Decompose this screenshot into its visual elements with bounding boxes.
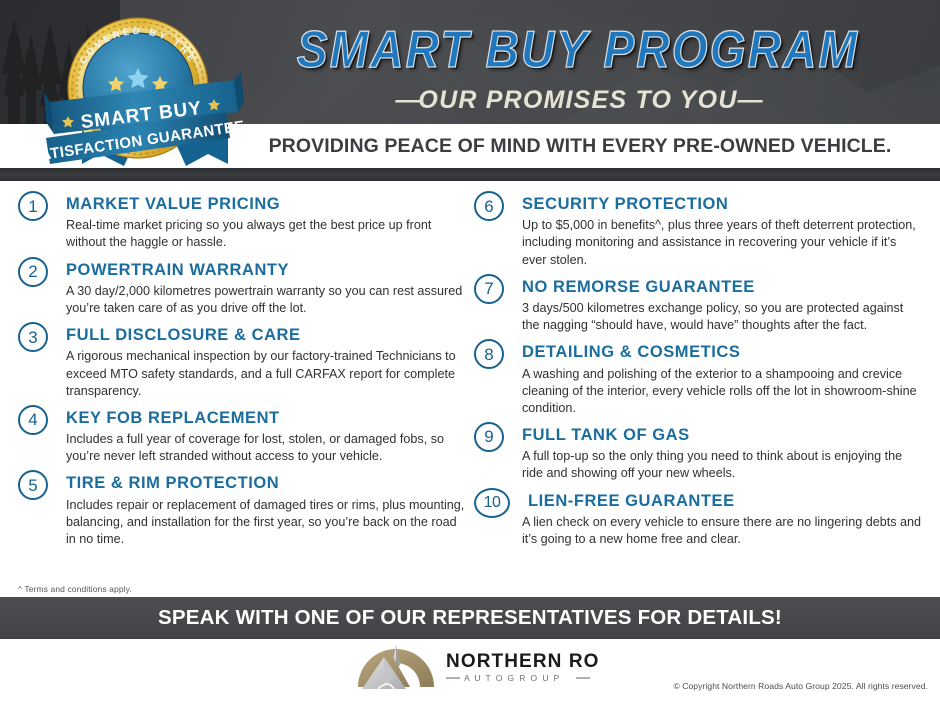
promise-item: 10 LIEN-FREE GUARANTEE A lien check on e… bbox=[474, 488, 924, 549]
promise-title: DETAILING & COSMETICS bbox=[522, 339, 924, 361]
promise-number-badge: 5 bbox=[18, 470, 48, 500]
promise-item: 4 KEY FOB REPLACEMENT Includes a full ye… bbox=[18, 405, 468, 466]
promise-number-badge: 1 bbox=[18, 191, 48, 221]
promise-title: NO REMORSE GUARANTEE bbox=[522, 274, 924, 296]
promise-number-badge: 6 bbox=[474, 191, 504, 221]
logo-name: NORTHERN ROADS bbox=[446, 651, 600, 672]
promise-title: KEY FOB REPLACEMENT bbox=[66, 405, 468, 427]
page-title: SMART BUY PROGRAM bbox=[228, 17, 928, 82]
copyright-text: © Copyright Northern Roads Auto Group 20… bbox=[673, 681, 928, 691]
promise-title: POWERTRAIN WARRANTY bbox=[66, 257, 468, 279]
promise-description: Includes a full year of coverage for los… bbox=[66, 431, 468, 465]
promise-description: Up to $5,000 in benefits^, plus three ye… bbox=[522, 217, 924, 268]
promise-item: 6 SECURITY PROTECTION Up to $5,000 in be… bbox=[474, 191, 924, 269]
promise-number-badge: 9 bbox=[474, 422, 504, 452]
page-subtitle: —OUR PROMISES TO YOU— bbox=[228, 86, 928, 115]
promise-title: FULL DISCLOSURE & CARE bbox=[66, 322, 468, 344]
promise-title: SECURITY PROTECTION bbox=[522, 191, 924, 213]
subtitle-text: OUR PROMISES TO YOU bbox=[418, 86, 737, 114]
promise-item: 3 FULL DISCLOSURE & CARE A rigorous mech… bbox=[18, 322, 468, 400]
promise-description: A lien check on every vehicle to ensure … bbox=[522, 514, 924, 548]
promises-column-left: 1 MARKET VALUE PRICING Real-time market … bbox=[18, 191, 468, 553]
cta-bar[interactable]: SPEAK WITH ONE OF OUR REPRESENTATIVES FO… bbox=[0, 597, 940, 639]
promise-title: FULL TANK OF GAS bbox=[522, 422, 924, 444]
promises-body: 1 MARKET VALUE PRICING Real-time market … bbox=[0, 181, 940, 585]
promise-item: 5 TIRE & RIM PROTECTION Includes repair … bbox=[18, 470, 468, 548]
terms-and-conditions-note: ^ Terms and conditions apply. bbox=[18, 584, 132, 594]
promise-description: A washing and polishing of the exterior … bbox=[522, 366, 924, 417]
promise-description: Includes repair or replacement of damage… bbox=[66, 497, 468, 548]
subtitle-dash-right: — bbox=[738, 86, 761, 114]
promise-item: 1 MARKET VALUE PRICING Real-time market … bbox=[18, 191, 468, 252]
smart-buy-satisfaction-guarantee-badge: COVERED BY THE SMART BUY SATISFACTION GU… bbox=[38, 4, 248, 170]
subtitle-dash-left: — bbox=[395, 86, 418, 114]
northern-roads-auto-group-logo[interactable]: NORTHERN ROADS A U T O G R O U P bbox=[348, 643, 600, 693]
promise-title: MARKET VALUE PRICING bbox=[66, 191, 468, 213]
cta-text: SPEAK WITH ONE OF OUR REPRESENTATIVES FO… bbox=[0, 597, 940, 639]
promise-number-badge: 10 bbox=[474, 488, 510, 518]
promise-description: A 30 day/2,000 kilometres powertrain war… bbox=[66, 283, 468, 317]
promise-item: 9 FULL TANK OF GAS A full top-up so the … bbox=[474, 422, 924, 483]
promise-number-badge: 8 bbox=[474, 339, 504, 369]
promise-number-badge: 3 bbox=[18, 322, 48, 352]
mountain-compass-icon bbox=[358, 645, 434, 689]
promise-number-badge: 7 bbox=[474, 274, 504, 304]
promise-description: A rigorous mechanical inspection by our … bbox=[66, 348, 468, 399]
promise-description: A full top-up so the only thing you need… bbox=[522, 448, 924, 482]
promise-item: 2 POWERTRAIN WARRANTY A 30 day/2,000 kil… bbox=[18, 257, 468, 318]
promise-title: TIRE & RIM PROTECTION bbox=[66, 470, 468, 492]
promise-item: 7 NO REMORSE GUARANTEE 3 days/500 kilome… bbox=[474, 274, 924, 335]
smart-buy-program-page: SMART BUY PROGRAM —OUR PROMISES TO YOU— … bbox=[0, 0, 940, 705]
promise-number-badge: 4 bbox=[18, 405, 48, 435]
promise-description: Real-time market pricing so you always g… bbox=[66, 217, 468, 251]
footer: NORTHERN ROADS A U T O G R O U P © Copyr… bbox=[0, 639, 940, 705]
promise-title: LIEN-FREE GUARANTEE bbox=[528, 488, 924, 510]
promise-item: 8 DETAILING & COSMETICS A washing and po… bbox=[474, 339, 924, 417]
promise-number-badge: 2 bbox=[18, 257, 48, 287]
promise-description: 3 days/500 kilometres exchange policy, s… bbox=[522, 300, 924, 334]
tagline-text: PROVIDING PEACE OF MIND WITH EVERY PRE-O… bbox=[230, 124, 930, 168]
promises-column-right: 6 SECURITY PROTECTION Up to $5,000 in be… bbox=[474, 191, 924, 553]
logo-subtitle: A U T O G R O U P bbox=[464, 673, 561, 683]
